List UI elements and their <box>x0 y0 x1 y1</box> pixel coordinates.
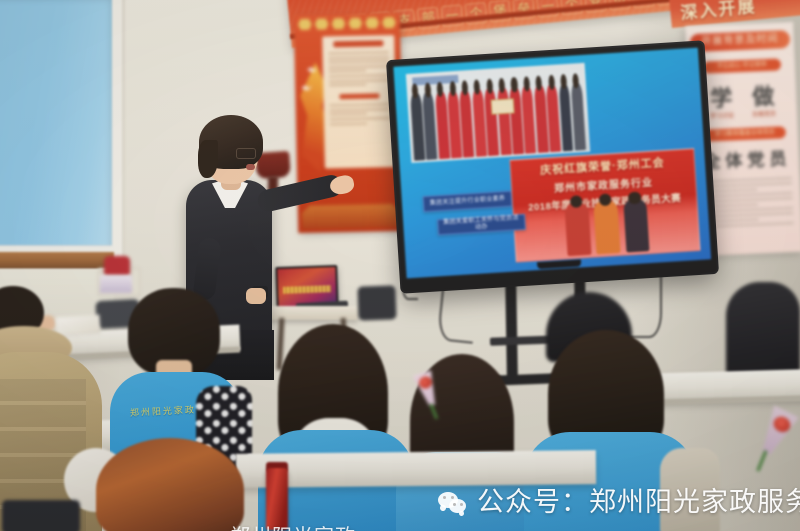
tv-brand-logo <box>536 259 580 269</box>
photo-scene: ☭ 一 个 支 部 一 个 堡 垒 一 个 党 员 一 面 旗 帜 深入开展 <box>0 0 800 531</box>
window-blind <box>0 0 112 252</box>
desk-row-front <box>236 450 596 488</box>
slide-photo-group <box>406 63 590 163</box>
shelf-papers <box>100 275 132 293</box>
poster-hex-row <box>298 17 396 31</box>
secondary-banner-text: 深入开展 <box>679 0 757 24</box>
tv-screen: 庆祝红旗荣誉·郑州工会 郑州市家政服务行业 2018年度职业技能家政服务员大赛 … <box>393 48 711 279</box>
poster-card-subheading <box>340 94 380 100</box>
presenter-left-hand <box>246 288 266 304</box>
poster-right-pill-1: 不忘初心·牢记使命 <box>703 58 781 73</box>
audience-member-right-rear <box>726 282 800 378</box>
slide-bullet-1: 集团关注提升行业职业素养 <box>423 191 512 212</box>
poster-right-header: 开展背景及时间 <box>690 30 791 52</box>
poster-card-heading <box>333 40 383 47</box>
poster-sub-left: 学习讨论 <box>710 110 734 120</box>
presenter-hair-side <box>198 140 218 178</box>
audience-member-beige-top <box>660 448 720 531</box>
slide-photo-award: 庆祝红旗荣誉·郑州工会 郑州市家政服务行业 2018年度职业技能家政服务员大赛 <box>509 148 700 263</box>
watermark-secondary: 郑州阳光家政 <box>230 520 356 531</box>
presenter-mouth <box>246 164 255 170</box>
poster-text-card <box>322 35 397 168</box>
presenter-glasses <box>236 148 256 159</box>
wall-mounted-display[interactable]: 庆祝红旗荣誉·郑州工会 郑州市家政服务行业 2018年度职业技能家政服务员大赛 … <box>388 42 717 291</box>
chair-back <box>2 500 80 531</box>
poster-right-pill-2: 学习教育覆盖全体党员 <box>704 126 786 141</box>
red-bag <box>104 256 130 276</box>
photo-people-row <box>408 82 589 161</box>
tv-cable <box>630 276 662 338</box>
award-certificate <box>490 98 514 114</box>
tv-stand-pole-left <box>505 272 518 382</box>
audience-member-dyed-hair <box>96 438 244 531</box>
slide-bullet-2: 集团关爱职工关怀与党员活动办 <box>437 214 526 235</box>
desk-paper <box>55 314 100 335</box>
chair-back <box>357 285 396 320</box>
poster-sub-right: 合格党员 <box>752 109 776 119</box>
